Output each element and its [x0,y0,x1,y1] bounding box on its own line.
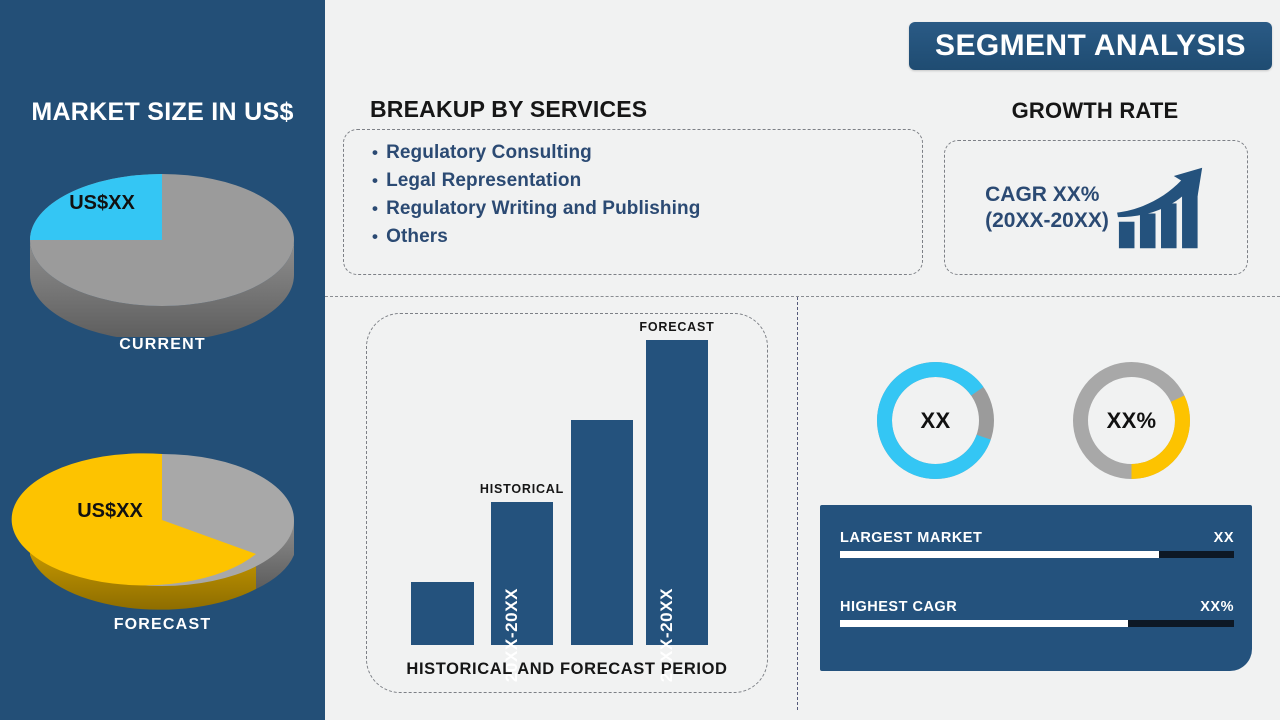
services-heading: BREAKUP BY SERVICES [370,96,647,123]
current-pie-stage: US$XX [0,152,325,337]
progress-fill [840,620,1128,627]
donut-1-center-label: XX [872,357,999,484]
progress-track [840,620,1234,627]
forecast-pie-stage: US$XX [0,432,325,617]
header-band: SEGMENT ANALYSIS imarc IMPACTFUL INSIGHT… [325,0,1280,94]
bar-4-top-label: FORECAST [639,320,714,334]
stats-panel: LARGEST MARKET XX HIGHEST CAGR XX% [820,505,1252,671]
bar-2-top-label: HISTORICAL [480,482,564,496]
bar-1 [411,582,474,645]
stat-row: LARGEST MARKET XX [840,530,1234,558]
sidebar-title: MARKET SIZE IN US$ [0,98,325,127]
list-item: • Regulatory Consulting [372,142,700,164]
growth-inner: CAGR XX% (20XX-20XX) [945,141,1247,274]
donut-chart-1: XX [872,357,999,484]
list-item: • Legal Representation [372,170,700,192]
forecast-pie-block: US$XX FORECAST [0,432,325,634]
pie-caption-forecast: FORECAST [0,616,325,634]
growth-text-block: CAGR XX% (20XX-20XX) [985,182,1109,233]
stat-value: XX% [1200,599,1234,615]
pie-caption-current: CURRENT [0,336,325,354]
services-card: • Regulatory Consulting • Legal Represen… [343,129,923,275]
bar-2: 20XX-20XX [491,502,553,645]
bullet-icon: • [372,172,378,189]
pie-chart-forecast: US$XX [0,432,325,617]
bullet-icon: • [372,228,378,245]
progress-fill [840,551,1159,558]
current-pie-block: US$XX CURRENT [0,152,325,354]
page-title: SEGMENT ANALYSIS [909,22,1272,70]
infographic-root: MARKET SIZE IN US$ US$XX [0,0,1280,720]
list-item: • Others [372,226,700,248]
stat-header: HIGHEST CAGR XX% [840,599,1234,615]
pie-value-label: US$XX [77,500,143,522]
bar-3 [571,420,633,645]
pie-chart-current: US$XX [0,152,325,337]
cagr-line-1: CAGR XX% [985,182,1109,208]
stat-value: XX [1214,530,1234,546]
bar-4: 20XX-20XX [646,340,708,645]
list-item-label: Regulatory Consulting [386,142,592,164]
cagr-line-2: (20XX-20XX) [985,208,1109,234]
list-item-label: Others [386,226,448,248]
stat-name: LARGEST MARKET [840,530,982,546]
stat-row: HIGHEST CAGR XX% [840,599,1234,627]
pie-value-label: US$XX [69,192,135,214]
sidebar-panel: MARKET SIZE IN US$ US$XX [0,0,325,720]
page-title-text: SEGMENT ANALYSIS [935,29,1246,63]
bar-chart-card: 20XX-20XX 20XX-20XX HISTORICAL FORECAST … [366,313,768,693]
donut-chart-2: XX% [1068,357,1195,484]
horizontal-divider [325,296,1280,297]
progress-track [840,551,1234,558]
list-item-label: Legal Representation [386,170,581,192]
bullet-icon: • [372,200,378,217]
bullet-icon: • [372,144,378,161]
bar-chart-plot: 20XX-20XX 20XX-20XX HISTORICAL FORECAST … [367,314,767,692]
services-list: • Regulatory Consulting • Legal Represen… [372,142,700,254]
growth-heading: GROWTH RATE [944,98,1246,124]
vertical-divider [797,297,798,710]
donut-2-center-label: XX% [1068,357,1195,484]
stat-header: LARGEST MARKET XX [840,530,1234,546]
stat-name: HIGHEST CAGR [840,599,957,615]
growth-card: CAGR XX% (20XX-20XX) [944,140,1248,275]
list-item-label: Regulatory Writing and Publishing [386,198,700,220]
list-item: • Regulatory Writing and Publishing [372,198,700,220]
growth-arrow-bars-icon [1115,165,1207,251]
bar-chart-axis-label: HISTORICAL AND FORECAST PERIOD [367,660,767,679]
